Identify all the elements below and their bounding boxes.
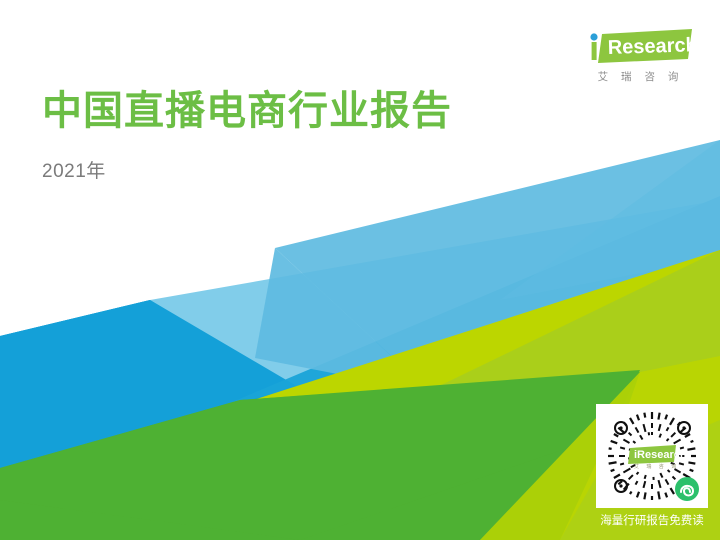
logo-i-stem bbox=[592, 42, 597, 60]
page-subtitle-year: 2021年 bbox=[42, 156, 452, 183]
qr-caption: 海量行研报告免费读 bbox=[596, 512, 708, 528]
title-block: 中国直播电商行业报告 2021年 bbox=[42, 88, 452, 183]
iresearch-logo-mark: Research bbox=[580, 26, 696, 66]
wechat-miniprogram-badge-icon bbox=[675, 477, 699, 501]
logo-wordmark: Research bbox=[607, 34, 696, 59]
report-cover-slide: Research 艾 瑞 咨 询 中国直播电商行业报告 2021年 bbox=[0, 0, 720, 540]
green-sheen-bottom bbox=[0, 500, 300, 540]
page-title: 中国直播电商行业报告 bbox=[42, 88, 452, 134]
qr-center-logo: iResearch 艾 瑞 咨 询 bbox=[628, 445, 687, 470]
iresearch-logo: Research 艾 瑞 咨 询 bbox=[580, 26, 696, 84]
qr-block[interactable]: iResearch 艾 瑞 咨 询 海量行研报告免费读 bbox=[596, 404, 708, 528]
logo-chinese-name: 艾 瑞 咨 询 bbox=[580, 69, 696, 84]
qr-code-card[interactable]: iResearch 艾 瑞 咨 询 bbox=[596, 404, 708, 508]
blue-light-peak-left bbox=[255, 248, 430, 392]
green-main-overlay bbox=[0, 372, 640, 540]
qr-center-wordmark: iResearch bbox=[634, 449, 687, 461]
logo-i-dot-icon bbox=[590, 33, 597, 40]
green-main-mountain bbox=[0, 370, 640, 540]
blue-light-upper-right bbox=[500, 140, 720, 300]
blue-left-mountain bbox=[0, 300, 300, 500]
blue-left-mountain-lower bbox=[0, 300, 430, 500]
qr-center-cn: 艾 瑞 咨 询 bbox=[634, 463, 679, 470]
